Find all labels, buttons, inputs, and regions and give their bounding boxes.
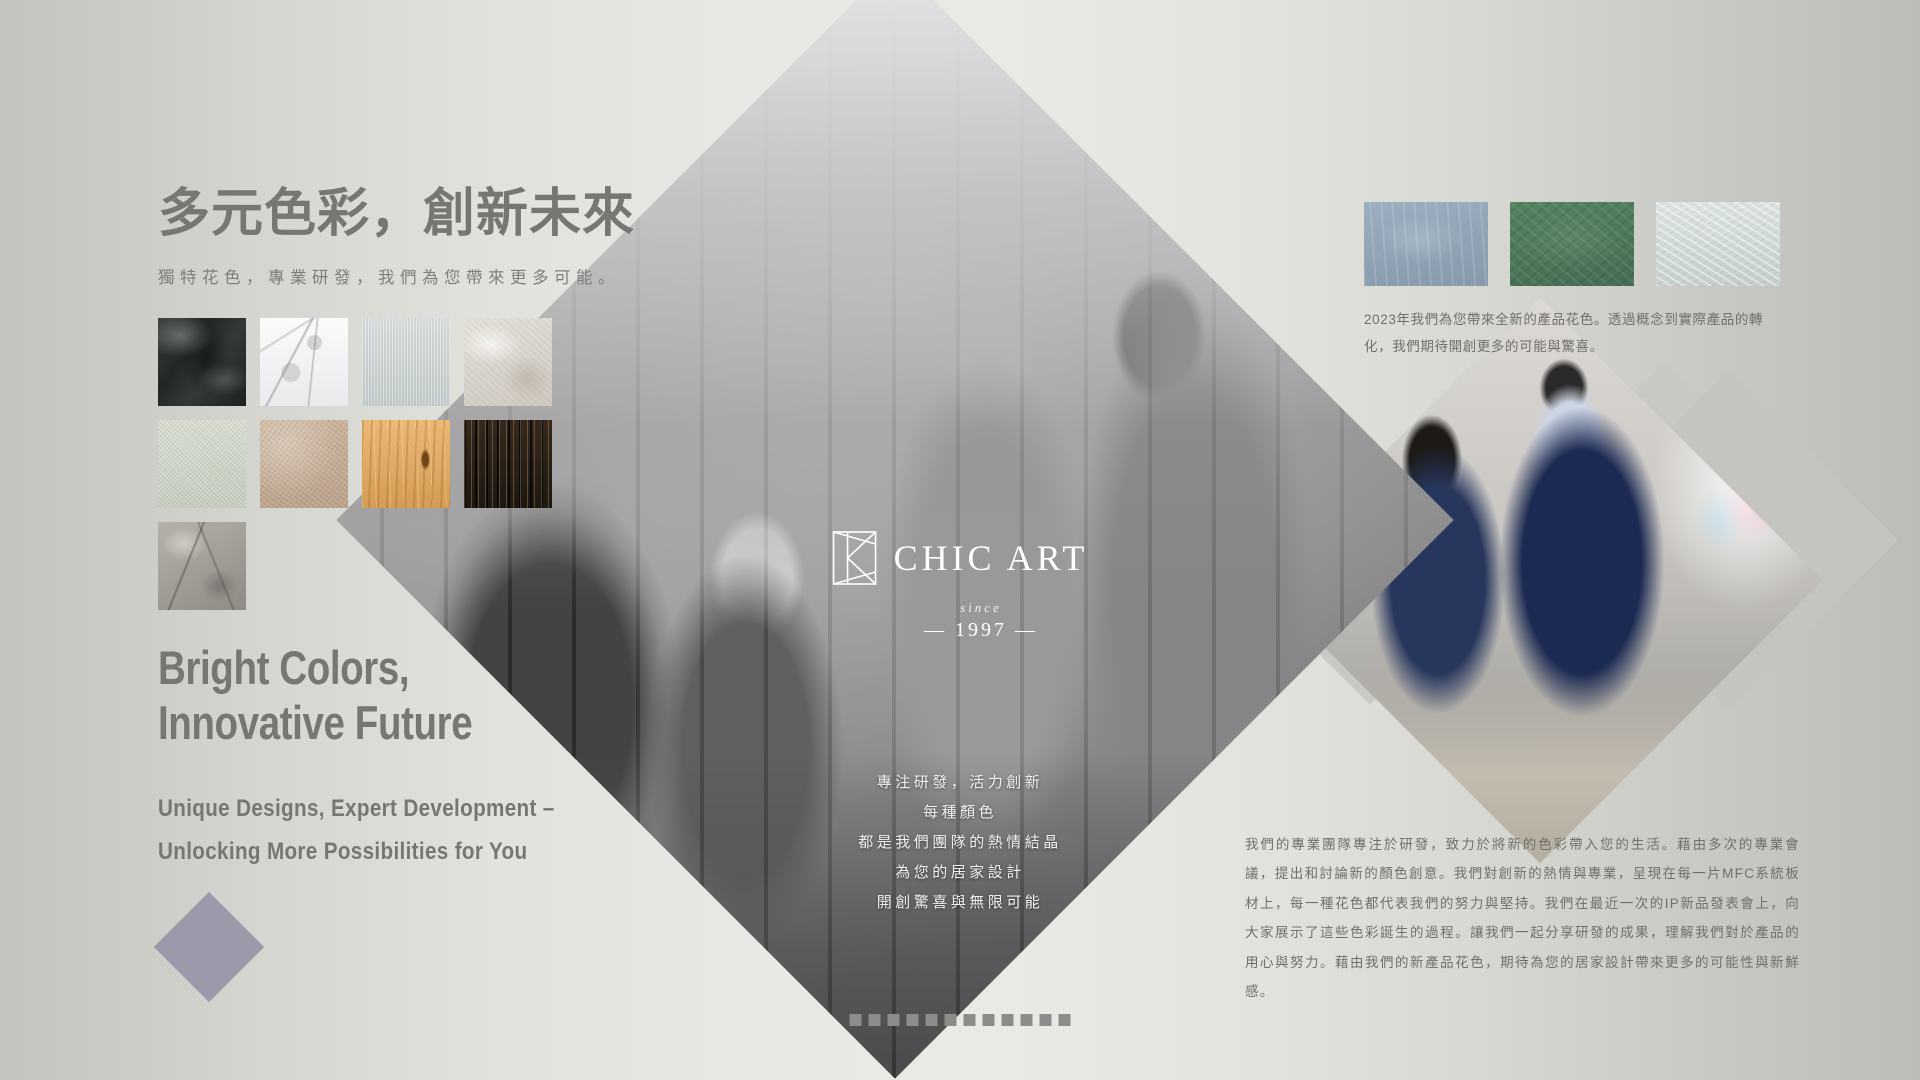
english-subheadline-line1: Unique Designs, Expert Development – <box>158 788 555 831</box>
brand-logo: CHIC ART since — 1997 — <box>832 530 1089 642</box>
brand-since-label: since <box>960 600 1002 616</box>
english-subheadline-line2: Unlocking More Possibilities for You <box>158 831 555 874</box>
pagination-dots[interactable] <box>850 1014 1071 1026</box>
pagination-dot[interactable] <box>964 1014 976 1026</box>
swatch-beige-stone[interactable] <box>464 318 552 406</box>
swatch-pale-grey[interactable] <box>362 318 450 406</box>
new-color-chip-row <box>1364 202 1780 286</box>
pagination-dot[interactable] <box>907 1014 919 1026</box>
color-chip-forest-green[interactable] <box>1510 202 1634 286</box>
color-chip-pale-mint[interactable] <box>1656 202 1780 286</box>
pagination-dot[interactable] <box>945 1014 957 1026</box>
english-headline-line1: Bright Colors, <box>158 640 472 695</box>
new-colors-note: 2023年我們為您帶來全新的產品花色。透過概念到實際產品的轉化，我們期待開創更多… <box>1364 306 1784 360</box>
swatch-tan-texture[interactable] <box>260 420 348 508</box>
pagination-dot[interactable] <box>850 1014 862 1026</box>
pagination-dot[interactable] <box>1040 1014 1052 1026</box>
center-tagline-line-4: 為您的居家設計 <box>858 858 1062 888</box>
swatch-dark-stone[interactable] <box>158 318 246 406</box>
english-headline-line2: Innovative Future <box>158 695 472 750</box>
brand-wordmark: CHIC ART <box>894 540 1089 576</box>
pagination-dot[interactable] <box>926 1014 938 1026</box>
brand-founded-year: — 1997 — <box>924 619 1038 642</box>
center-tagline-line-5: 開創驚喜與無限可能 <box>858 888 1062 918</box>
english-subheadline: Unique Designs, Expert Development – Unl… <box>158 788 555 873</box>
pagination-dot[interactable] <box>1002 1014 1014 1026</box>
left-headline-block: 多元色彩，創新未來 獨特花色，專業研發，我們為您帶來更多可能。 <box>158 185 778 292</box>
center-tagline: 專注研發，活力創新每種顏色都是我們團隊的熱情結晶為您的居家設計開創驚喜與無限可能 <box>858 768 1062 918</box>
chic-art-monogram-icon <box>832 530 878 586</box>
swatch-grey-marble[interactable] <box>158 522 246 610</box>
pagination-dot[interactable] <box>983 1014 995 1026</box>
pagination-dot[interactable] <box>1021 1014 1033 1026</box>
center-tagline-line-3: 都是我們團隊的熱情結晶 <box>858 828 1062 858</box>
color-chip-blue-grey[interactable] <box>1364 202 1488 286</box>
swatch-sage-fabric[interactable] <box>158 420 246 508</box>
swatch-ebony-wood[interactable] <box>464 420 552 508</box>
pagination-dot[interactable] <box>869 1014 881 1026</box>
swatch-oak-wood[interactable] <box>362 420 450 508</box>
english-headline: Bright Colors, Innovative Future <box>158 640 472 751</box>
accent-diamond-shape <box>154 892 264 1002</box>
swatch-white-marble[interactable] <box>260 318 348 406</box>
poster-canvas: 多元色彩，創新未來 獨特花色，專業研發，我們為您帶來更多可能。 Bright C… <box>0 0 1920 1080</box>
page-subtitle: 獨特花色，專業研發，我們為您帶來更多可能。 <box>158 265 778 291</box>
center-tagline-line-2: 每種顏色 <box>858 798 1062 828</box>
page-title: 多元色彩，創新未來 <box>158 185 778 243</box>
material-swatch-grid <box>158 318 578 610</box>
about-paragraph: 我們的專業團隊專注於研發，致力於將新的色彩帶入您的生活。藉由多次的專業會議，提出… <box>1245 830 1800 1007</box>
center-tagline-line-1: 專注研發，活力創新 <box>858 768 1062 798</box>
pagination-dot[interactable] <box>1059 1014 1071 1026</box>
pagination-dot[interactable] <box>888 1014 900 1026</box>
